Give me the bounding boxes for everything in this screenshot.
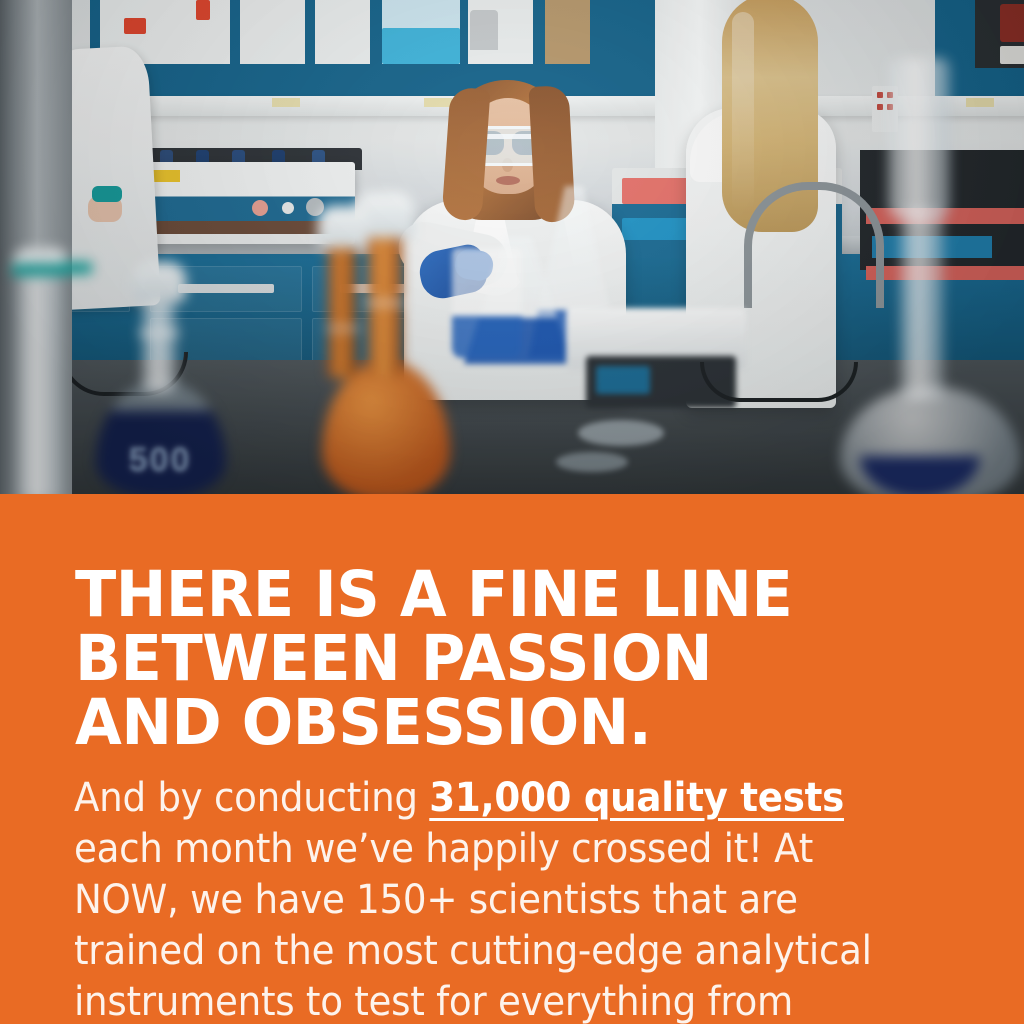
- social-graphic-canvas: 500 THERE IS A FINE LINE BETWEEN PASSION…: [0, 0, 1024, 1024]
- shelf-tab: [272, 98, 300, 107]
- flask-neck: [142, 292, 176, 392]
- cabinet-shelf-item: [315, 0, 370, 64]
- instrument-knob: [282, 202, 294, 214]
- page-headline: THERE IS A FINE LINE BETWEEN PASSION AND…: [75, 563, 920, 755]
- cabinet-red-label: [196, 0, 210, 20]
- body-lead: And by conducting: [74, 775, 429, 821]
- mouth: [496, 176, 520, 185]
- amber-flask-neck: [368, 214, 402, 376]
- cabinet-shelf-item: [240, 0, 305, 64]
- graduated-cylinder: [18, 256, 62, 494]
- flask-graduation-ring: [326, 326, 360, 331]
- balance-display: [596, 366, 650, 394]
- flask-graduation-ring: [138, 330, 180, 336]
- rack-red-shelf: [866, 266, 1024, 280]
- beaker-blue: [452, 248, 522, 358]
- cabinet-cyan-panel: [382, 28, 460, 64]
- flask-stopper: [132, 262, 186, 302]
- cabinet-white-box: [1000, 46, 1024, 64]
- body-rest: each month we’ve happily crossed it! At …: [74, 826, 872, 1024]
- tall-glassware-column: [888, 58, 950, 218]
- structural-post-edge: [0, 0, 16, 494]
- floor-cable: [700, 362, 858, 402]
- cabinet-gray-bottle: [470, 10, 498, 50]
- panel-indicator: [877, 92, 883, 98]
- panel-indicator: [877, 104, 883, 110]
- amber-flask-stopper: [318, 206, 368, 248]
- stat-quality-tests: 31,000 quality tests: [429, 775, 844, 821]
- flask-neck: [900, 210, 944, 400]
- teal-glove: [92, 186, 122, 202]
- body-copy: And by conducting 31,000 quality tests e…: [74, 773, 892, 1024]
- teal-tape-band: [60, 262, 92, 274]
- instrument-knob: [252, 200, 268, 216]
- petri-dish: [578, 420, 664, 446]
- lab-hose: [744, 182, 884, 308]
- cabinet-red-box: [1000, 4, 1024, 42]
- shelf-tab: [424, 98, 452, 107]
- flask-volume-label: 500: [104, 440, 216, 480]
- cabinet-red-label: [124, 18, 146, 34]
- amber-flask-neck: [328, 228, 356, 378]
- lab-photo: 500: [0, 0, 1024, 494]
- shelf-tab: [966, 98, 994, 107]
- flask-graduation-ring: [364, 300, 406, 306]
- petri-dish: [556, 452, 628, 472]
- cabinet-shelf-item: [545, 0, 590, 64]
